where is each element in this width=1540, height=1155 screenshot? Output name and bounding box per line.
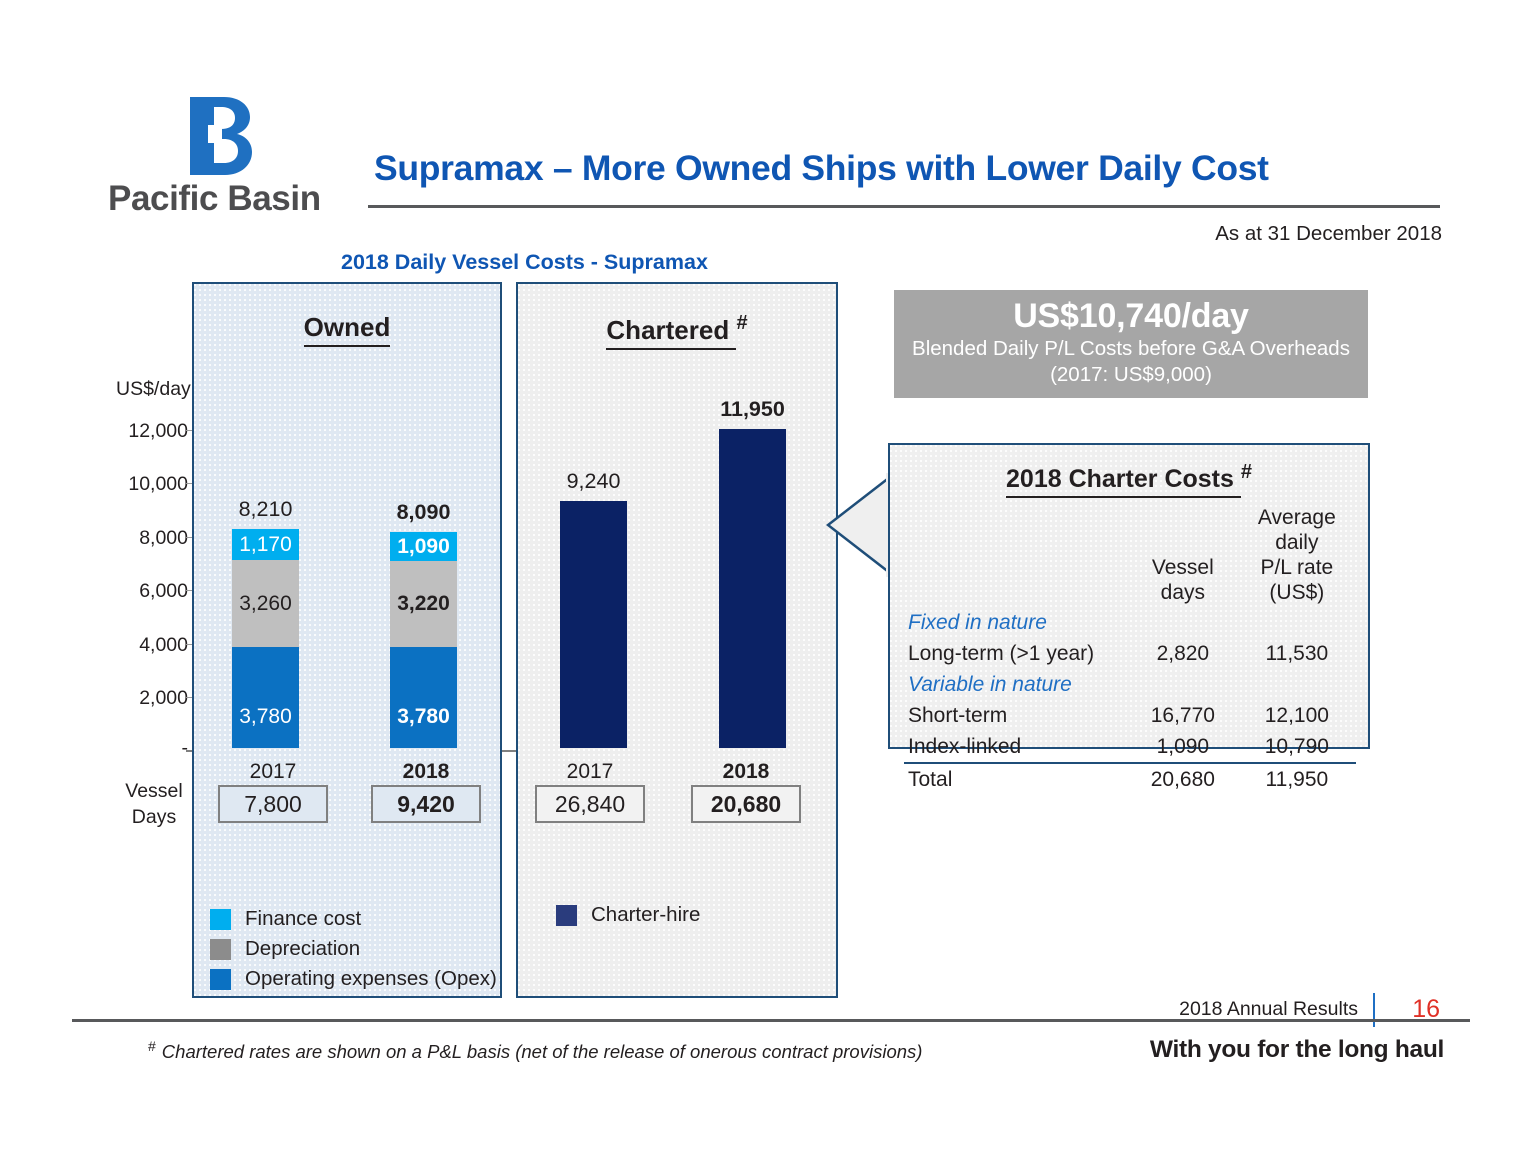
segment-finance-cost-2018: 1,090 <box>390 532 457 561</box>
header-daily-rate-line2: P/L rate (US$) <box>1242 555 1352 605</box>
y-axis-labels: 12,000 10,000 8,000 6,000 4,000 2,000 - <box>108 282 188 998</box>
y-tick-zero: - <box>112 737 188 760</box>
legend-label-opex: Operating expenses (Opex) <box>245 967 497 991</box>
footer-rule <box>72 1019 1470 1022</box>
year-label-owned-2018: 2018 <box>371 760 481 784</box>
segment-finance-cost-2017: 1,170 <box>232 529 299 560</box>
charter-costs-callout: 2018 Charter Costs # Vessel days Average… <box>888 443 1370 749</box>
legend-chartered: Charter-hire <box>556 900 700 930</box>
banner-subtitle: Blended Daily P/L Costs before G&A Overh… <box>894 336 1368 362</box>
segment-charter-hire-2017 <box>560 501 627 748</box>
segment-opex-2017: 3,780 <box>232 647 299 748</box>
y-tick-2000: 2,000 <box>112 687 188 710</box>
legend-item-opex: Operating expenses (Opex) <box>210 964 497 994</box>
segment-charter-hire-2018 <box>719 429 786 748</box>
legend-item-depreciation: Depreciation <box>210 934 497 964</box>
charter-costs-table: Vessel days Average daily P/L rate (US$)… <box>904 505 1356 795</box>
cell-short-term-name: Short-term <box>904 700 1128 731</box>
banner-prior-year: (2017: US$9,000) <box>894 362 1368 388</box>
bar-chartered-2017-total: 9,240 <box>567 469 621 494</box>
cell-long-term-rate: 11,530 <box>1238 638 1356 669</box>
cell-total-rate: 11,950 <box>1238 763 1356 795</box>
footnote: #Chartered rates are shown on a P&L basi… <box>148 1038 922 1063</box>
panel-owned-heading: Owned <box>194 312 500 343</box>
year-label-chartered-2017: 2017 <box>535 760 645 784</box>
cell-short-term-days: 16,770 <box>1128 700 1238 731</box>
vessel-days-label-line2: Days <box>118 804 190 830</box>
header-vessel-days-line2: days <box>1132 580 1234 605</box>
bar-owned-2018: 8,090 1,090 3,220 3,780 <box>390 532 457 748</box>
panel-owned-heading-text: Owned <box>304 312 391 347</box>
tagline: With you for the long haul <box>1150 1036 1444 1064</box>
deck-name: 2018 Annual Results <box>1179 998 1358 1021</box>
legend-label-depreciation: Depreciation <box>245 937 360 961</box>
cell-index-linked-days: 1,090 <box>1128 731 1238 763</box>
header-blank <box>904 505 1128 607</box>
owned-plot-area: 8,210 1,170 3,260 3,780 8,090 1,090 3,22… <box>194 284 500 996</box>
bar-owned-2017: 8,210 1,170 3,260 3,780 <box>232 529 299 748</box>
group-label-fixed: Fixed in nature <box>904 607 1128 638</box>
panel-chartered: Chartered # 9,240 11,950 Charter-hire <box>516 282 838 998</box>
year-label-chartered-2018: 2018 <box>691 760 801 784</box>
cell-total-name: Total <box>904 763 1128 795</box>
cell-long-term-days: 2,820 <box>1128 638 1238 669</box>
bar-owned-2017-total: 8,210 <box>239 497 293 522</box>
vessel-days-box-chartered-2018: 20,680 <box>691 785 801 823</box>
header-vessel-days-line1: Vessel <box>1132 555 1234 580</box>
bar-owned-2018-total: 8,090 <box>397 500 451 525</box>
year-label-owned-2017: 2017 <box>218 760 328 784</box>
chartered-plot-area: 9,240 11,950 <box>518 284 836 996</box>
legend-item-charter-hire: Charter-hire <box>556 900 700 930</box>
cell-long-term-name: Long-term (>1 year) <box>904 638 1128 669</box>
table-row-short-term: Short-term 16,770 12,100 <box>904 700 1356 731</box>
cell-total-days: 20,680 <box>1128 763 1238 795</box>
vessel-days-box-chartered-2017: 26,840 <box>535 785 645 823</box>
y-tick-6000: 6,000 <box>112 580 188 603</box>
header-daily-rate: Average daily P/L rate (US$) <box>1238 505 1356 607</box>
table-row-long-term: Long-term (>1 year) 2,820 11,530 <box>904 638 1356 669</box>
legend-swatch-depreciation-icon <box>210 939 231 960</box>
header-daily-rate-line1: Average daily <box>1242 505 1352 555</box>
cell-index-linked-name: Index-linked <box>904 731 1128 763</box>
y-tick-8000: 8,000 <box>112 527 188 550</box>
cell-short-term-rate: 12,100 <box>1238 700 1356 731</box>
callout-title-hash: # <box>1241 461 1252 483</box>
pacific-basin-b-logo-icon <box>180 95 262 177</box>
legend-item-finance-cost: Finance cost <box>210 904 497 934</box>
table-header-row: Vessel days Average daily P/L rate (US$) <box>904 505 1356 607</box>
group-header-fixed: Fixed in nature <box>904 607 1356 638</box>
footnote-hash: # <box>148 1038 156 1054</box>
panel-chartered-heading-text: Chartered <box>606 315 736 350</box>
segment-depreciation-2018: 3,220 <box>390 561 457 647</box>
legend-label-charter-hire: Charter-hire <box>591 903 700 927</box>
as-at-date: As at 31 December 2018 <box>1215 222 1442 246</box>
segment-depreciation-2017: 3,260 <box>232 560 299 647</box>
bar-chartered-2018-total: 11,950 <box>720 397 785 422</box>
panel-chartered-heading: Chartered # <box>518 312 836 346</box>
footnote-text: Chartered rates are shown on a P&L basis… <box>162 1041 923 1062</box>
vessel-days-label-line1: Vessel <box>118 778 190 804</box>
group-header-variable: Variable in nature <box>904 669 1356 700</box>
vessel-days-box-owned-2017: 7,800 <box>218 785 328 823</box>
segment-opex-2018: 3,780 <box>390 647 457 748</box>
y-tick-12000: 12,000 <box>112 420 188 443</box>
vessel-days-axis-label: Vessel Days <box>118 778 190 830</box>
brand-wordmark: Pacific Basin <box>108 179 338 219</box>
y-tick-10000: 10,000 <box>112 473 188 496</box>
legend-swatch-finance-cost-icon <box>210 909 231 930</box>
legend-label-finance-cost: Finance cost <box>245 907 361 931</box>
legend-swatch-charter-hire-icon <box>556 905 577 926</box>
y-tick-4000: 4,000 <box>112 634 188 657</box>
blended-cost-banner: US$10,740/day Blended Daily P/L Costs be… <box>894 290 1368 398</box>
legend-swatch-opex-icon <box>210 969 231 990</box>
brand-logo: Pacific Basin <box>108 95 338 220</box>
vessel-days-box-owned-2018: 9,420 <box>371 785 481 823</box>
chart-title: 2018 Daily Vessel Costs - Supramax <box>341 250 708 275</box>
title-divider <box>368 205 1440 208</box>
table-row-total: Total 20,680 11,950 <box>904 763 1356 795</box>
cell-index-linked-rate: 10,790 <box>1238 731 1356 763</box>
callout-title: 2018 Charter Costs # <box>890 461 1368 494</box>
panel-owned: Owned 8,210 1,170 3,260 3,780 8,090 1,09… <box>192 282 502 998</box>
callout-pointer-icon <box>826 443 892 749</box>
header-vessel-days: Vessel days <box>1128 505 1238 607</box>
bar-chartered-2018: 11,950 <box>719 429 786 748</box>
legend-owned: Finance cost Depreciation Operating expe… <box>210 904 497 994</box>
banner-headline: US$10,740/day <box>894 296 1368 336</box>
page-title: Supramax – More Owned Ships with Lower D… <box>374 148 1444 189</box>
table-row-index-linked: Index-linked 1,090 10,790 <box>904 731 1356 763</box>
panel-chartered-hash: # <box>736 312 747 334</box>
bar-chartered-2017: 9,240 <box>560 501 627 748</box>
callout-title-text: 2018 Charter Costs <box>1006 465 1241 498</box>
group-label-variable: Variable in nature <box>904 669 1128 700</box>
